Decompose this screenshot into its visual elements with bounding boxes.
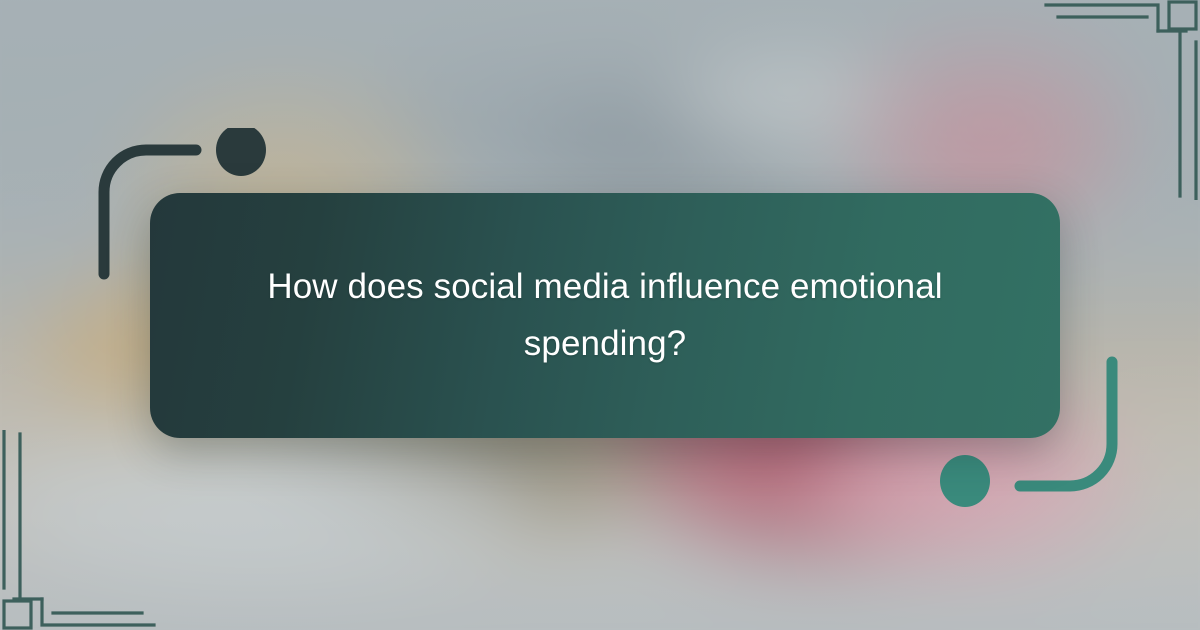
quote-card-banner: How does social media influence emotiona…	[0, 0, 1200, 630]
quote-text: How does social media influence emotiona…	[220, 259, 990, 372]
quote-card: How does social media influence emotiona…	[150, 193, 1060, 438]
